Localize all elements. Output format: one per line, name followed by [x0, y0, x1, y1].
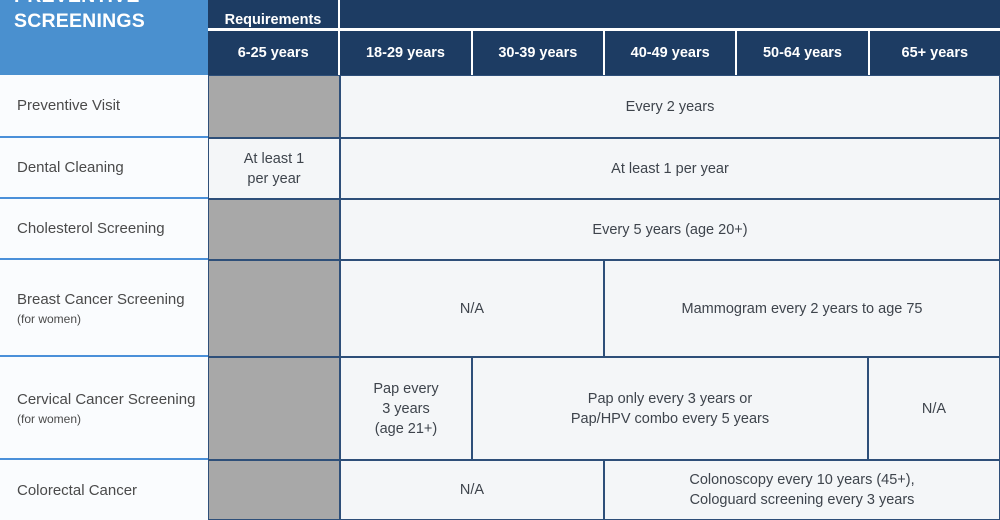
row-label-text: Breast Cancer Screening: [17, 289, 202, 310]
cell-preventive-visit-frequency: Every 2 years: [340, 75, 1000, 138]
header-group-requirements: Requirements: [208, 0, 340, 28]
row-label-breast-cancer-screening: Breast Cancer Screening (for women): [0, 260, 208, 357]
header-group-frequency: [342, 0, 1000, 28]
cell-cervical-pap: Pap every 3 years (age 21+): [340, 357, 472, 460]
header-col-18-29: 18-29 years: [340, 31, 472, 75]
cell-cervical-na: N/A: [868, 357, 1000, 460]
preventive-screenings-table: PREVENTIVE SCREENINGS Preventive Visit D…: [0, 0, 1000, 500]
header-group-requirements-label: Requirements: [225, 13, 322, 28]
cell-dental-6-25: At least 1 per year: [208, 138, 340, 199]
row-label-subtext: (for women): [17, 411, 202, 427]
blocked-cell-breast-6-25: [208, 260, 340, 357]
cell-colorectal-na: N/A: [340, 460, 604, 520]
row-label-text: Cholesterol Screening: [17, 218, 202, 239]
cell-breast-na: N/A: [340, 260, 604, 357]
row-label-text: Colorectal Cancer: [17, 480, 202, 501]
cell-breast-mammogram: Mammogram every 2 years to age 75: [604, 260, 1000, 357]
row-label-cholesterol-screening: Cholesterol Screening: [0, 199, 208, 260]
cell-dental-frequency: At least 1 per year: [340, 138, 1000, 199]
cell-colorectal-detail: Colonoscopy every 10 years (45+), Cologu…: [604, 460, 1000, 520]
header-age-row: 6-25 years 18-29 years 30-39 years 40-49…: [208, 31, 1000, 75]
row-label-text: Dental Cleaning: [17, 157, 202, 178]
header-col-6-25: 6-25 years: [208, 31, 340, 75]
blocked-cell-cervical-6-25: [208, 357, 340, 460]
blocked-cell-preventive-visit-6-25: [208, 75, 340, 138]
cell-cervical-combo: Pap only every 3 years or Pap/HPV combo …: [472, 357, 868, 460]
row-label-colorectal-cancer: Colorectal Cancer: [0, 460, 208, 520]
row-label-text: Cervical Cancer Screening: [17, 389, 202, 410]
table-body: Every 2 years At least 1 per year At lea…: [208, 75, 1000, 500]
sidebar: PREVENTIVE SCREENINGS Preventive Visit D…: [0, 0, 208, 500]
row-label-dental-cleaning: Dental Cleaning: [0, 138, 208, 199]
row-label-subtext: (for women): [17, 311, 202, 327]
header-col-40-49: 40-49 years: [605, 31, 737, 75]
cell-cholesterol-frequency: Every 5 years (age 20+): [340, 199, 1000, 260]
row-label-preventive-visit: Preventive Visit: [0, 75, 208, 138]
row-label-text: Preventive Visit: [17, 95, 202, 116]
page-title: PREVENTIVE SCREENINGS: [14, 0, 145, 34]
row-label-cervical-cancer-screening: Cervical Cancer Screening (for women): [0, 357, 208, 460]
header-col-50-64: 50-64 years: [737, 31, 869, 75]
sidebar-header: PREVENTIVE SCREENINGS: [0, 0, 208, 75]
blocked-cell-colorectal-6-25: [208, 460, 340, 520]
blocked-cell-cholesterol-6-25: [208, 199, 340, 260]
header-col-30-39: 30-39 years: [473, 31, 605, 75]
header-col-65-plus: 65+ years: [870, 31, 1000, 75]
